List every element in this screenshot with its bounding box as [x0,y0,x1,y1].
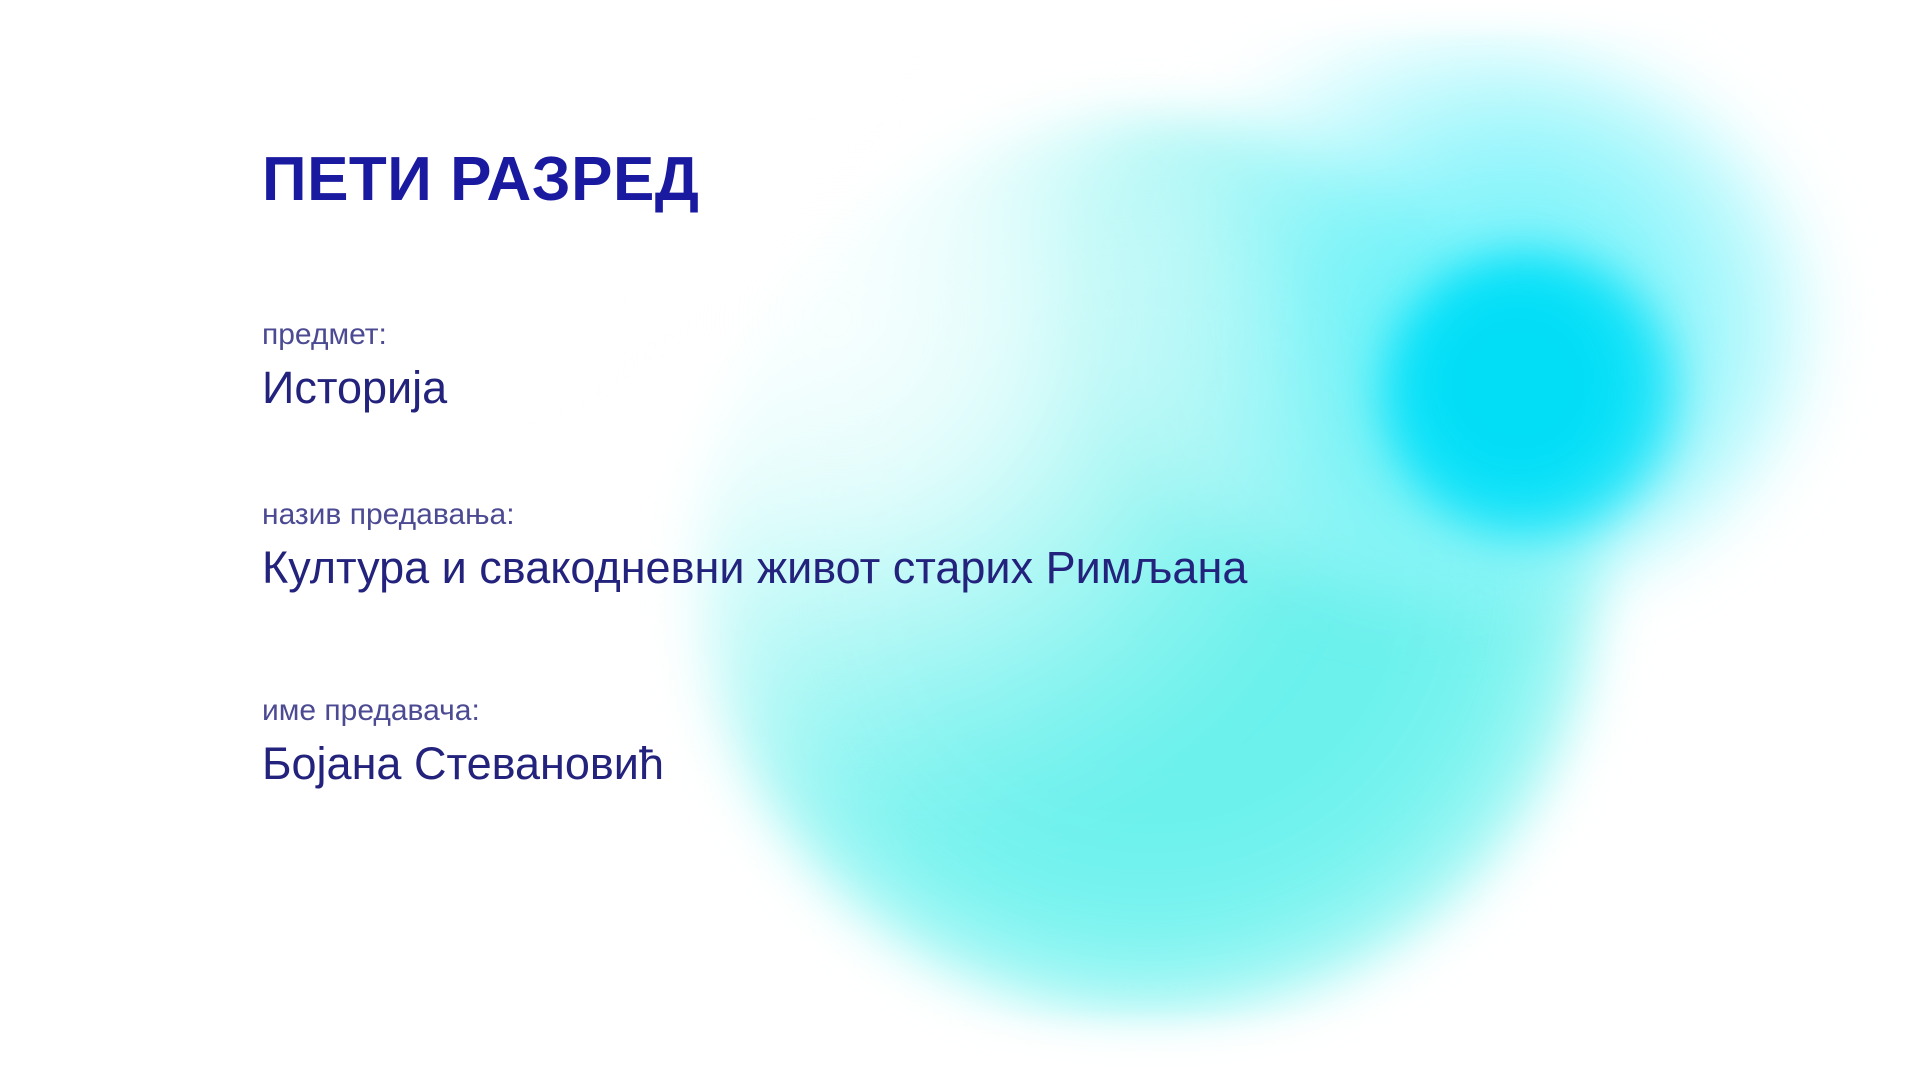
field-lecture-name-value: Култура и свакодневни живот старих Римља… [262,543,1682,593]
field-subject-value: Историја [262,363,1682,413]
field-subject-label: предмет: [262,318,1682,351]
field-lecture-name-label: назив предавања: [262,498,1682,531]
page-title: ПЕТИ РАЗРЕД [262,148,699,212]
field-teacher-name-label: име предавача: [262,694,1682,727]
field-subject: предмет: Историја [262,318,1682,413]
field-teacher-name-value: Бојана Стевановић [262,739,1682,789]
field-teacher-name: име предавача: Бојана Стевановић [262,694,1682,789]
lecture-title-slide: ПЕТИ РАЗРЕД предмет: Историја назив пред… [0,0,1920,1080]
field-lecture-name: назив предавања: Култура и свакодневни ж… [262,498,1682,593]
slide-content: ПЕТИ РАЗРЕД предмет: Историја назив пред… [262,0,1762,1080]
